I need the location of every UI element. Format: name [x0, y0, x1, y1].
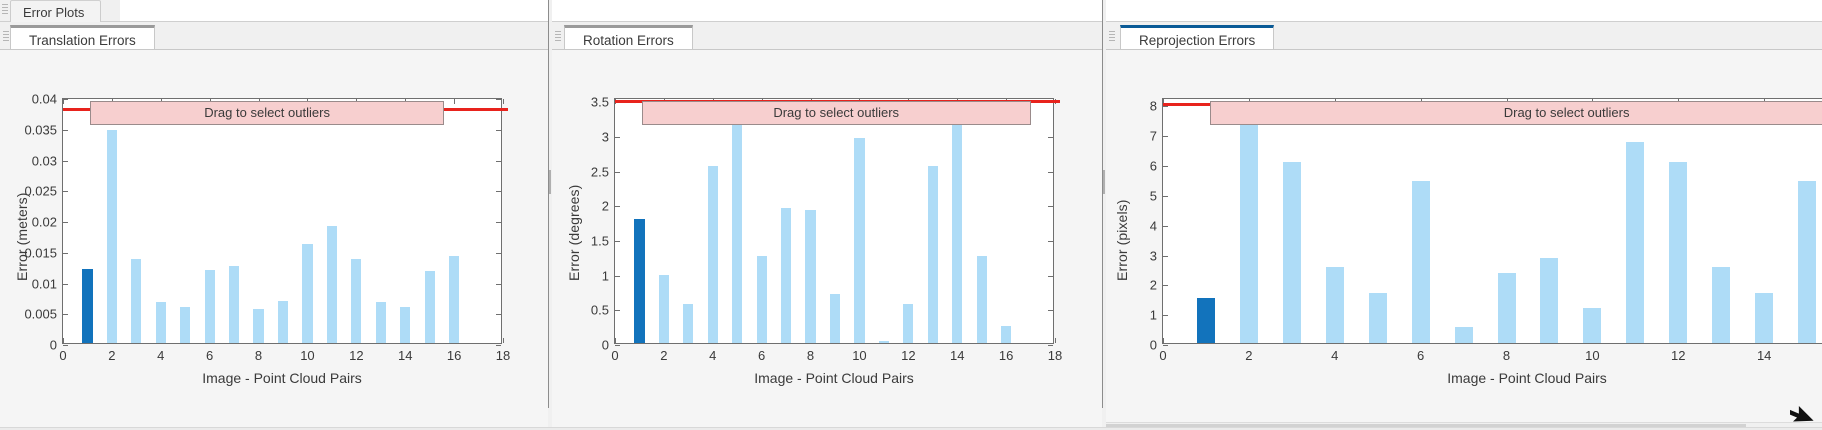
x-tick-label: 8 — [255, 348, 262, 363]
y-tick — [615, 206, 620, 207]
y-tick — [496, 345, 501, 346]
x-tick-label: 4 — [1331, 348, 1338, 363]
drag-to-select-outliers-band[interactable]: Drag to select outliers — [90, 101, 444, 125]
bar[interactable] — [156, 302, 166, 343]
y-tick-label: 0 — [50, 338, 57, 353]
x-axis-label: Image - Point Cloud Pairs — [614, 370, 1054, 386]
bar[interactable] — [708, 166, 718, 343]
bar[interactable] — [1712, 267, 1730, 343]
bar[interactable] — [449, 256, 459, 343]
y-tick-label: 0.03 — [32, 153, 57, 168]
y-tick-label: 6 — [1150, 159, 1157, 174]
y-tick — [63, 222, 68, 223]
y-tick — [63, 314, 68, 315]
x-tick-label: 14 — [398, 348, 412, 363]
y-tick — [1048, 345, 1053, 346]
y-axis-label: Error (meters) — [14, 192, 30, 281]
y-tick — [496, 191, 501, 192]
axes-1[interactable]: 00.511.522.533.5024681012141618Drag to s… — [614, 98, 1054, 344]
x-tick-label: 2 — [108, 348, 115, 363]
y-axis-label: Error (pixels) — [1114, 199, 1130, 281]
x-tick-label: 8 — [807, 348, 814, 363]
y-tick — [1048, 241, 1053, 242]
y-tick — [1048, 310, 1053, 311]
y-tick — [1163, 196, 1168, 197]
y-tick — [63, 345, 68, 346]
y-tick — [1163, 256, 1168, 257]
x-tick-label: 2 — [1245, 348, 1252, 363]
bar[interactable] — [757, 256, 767, 343]
y-tick — [63, 253, 68, 254]
x-tick-label: 10 — [1585, 348, 1599, 363]
y-tick-label: 3.5 — [591, 95, 609, 110]
bar[interactable] — [229, 266, 239, 343]
y-tick — [615, 310, 620, 311]
y-tick — [496, 314, 501, 315]
x-tick-label: 6 — [1417, 348, 1424, 363]
bar[interactable] — [1001, 326, 1011, 343]
y-tick — [1163, 285, 1168, 286]
y-tick — [496, 99, 501, 100]
y-tick-label: 0.01 — [32, 276, 57, 291]
y-tick-label: 2 — [602, 199, 609, 214]
y-tick-label: 3 — [602, 130, 609, 145]
y-tick-label: 7 — [1150, 129, 1157, 144]
bar[interactable] — [903, 304, 913, 343]
x-tick-label: 4 — [157, 348, 164, 363]
bar[interactable] — [1197, 298, 1215, 343]
bar[interactable] — [1626, 142, 1644, 343]
y-tick — [63, 284, 68, 285]
x-tick — [454, 99, 455, 104]
x-tick-label: 2 — [660, 348, 667, 363]
y-tick-label: 8 — [1150, 99, 1157, 114]
x-tick-label: 12 — [1671, 348, 1685, 363]
figure-2: 0123456780246810121416Drag to select out… — [1106, 50, 1822, 422]
y-tick-label: 0.5 — [591, 303, 609, 318]
y-tick-label: 3 — [1150, 248, 1157, 263]
x-tick-label: 10 — [852, 348, 866, 363]
bar[interactable] — [205, 270, 215, 343]
y-tick — [615, 241, 620, 242]
x-tick-label: 12 — [349, 348, 363, 363]
bar[interactable] — [1798, 181, 1816, 343]
outer-tab-strip: Error Plots — [0, 0, 1822, 22]
x-tick-label: 16 — [447, 348, 461, 363]
y-axis-label: Error (degrees) — [566, 185, 582, 281]
y-tick-label: 0.035 — [24, 122, 57, 137]
axes-0[interactable]: 00.0050.010.0150.020.0250.030.0350.04024… — [62, 98, 502, 344]
y-tick — [615, 137, 620, 138]
y-tick — [63, 130, 68, 131]
y-tick — [1048, 137, 1053, 138]
panel-tab-row-1: Rotation Errors — [552, 22, 1102, 50]
figure-1: 00.511.522.533.5024681012141618Drag to s… — [552, 50, 1102, 422]
bar[interactable] — [805, 210, 815, 343]
drag-grip-icon[interactable] — [555, 31, 561, 45]
x-axis-label: Image - Point Cloud Pairs — [1162, 370, 1822, 386]
bar[interactable] — [659, 275, 669, 343]
bar[interactable] — [327, 226, 337, 343]
x-tick — [503, 338, 504, 343]
x-tick — [63, 99, 64, 104]
x-tick — [1055, 338, 1056, 343]
outer-tab-strip-filler — [120, 0, 1822, 22]
figure-0: 00.0050.010.0150.020.0250.030.0350.04024… — [0, 50, 548, 422]
y-tick — [1163, 226, 1168, 227]
tab-rotation-errors[interactable]: Rotation Errors — [564, 25, 693, 50]
y-tick — [496, 284, 501, 285]
bar[interactable] — [781, 208, 791, 343]
plot-panel-1: Rotation Errors00.511.522.533.5024681012… — [552, 22, 1102, 430]
bar[interactable] — [82, 269, 92, 343]
drag-grip-icon[interactable] — [3, 31, 9, 45]
y-tick — [496, 222, 501, 223]
tab-error-plots[interactable]: Error Plots — [10, 0, 101, 22]
plot-panels: Translation Errors00.0050.010.0150.020.0… — [0, 22, 1822, 430]
drag-to-select-outliers-band[interactable]: Drag to select outliers — [642, 101, 1031, 125]
y-tick — [615, 345, 620, 346]
x-tick — [63, 338, 64, 343]
bar[interactable] — [1326, 267, 1344, 343]
drag-to-select-outliers-band[interactable]: Drag to select outliers — [1210, 101, 1822, 125]
y-tick — [615, 276, 620, 277]
x-tick — [1163, 338, 1164, 343]
x-tick-label: 14 — [1757, 348, 1771, 363]
tab-reprojection-errors[interactable]: Reprojection Errors — [1120, 25, 1274, 50]
bar[interactable] — [1369, 293, 1387, 343]
x-tick-label: 12 — [901, 348, 915, 363]
x-tick-label: 18 — [1048, 348, 1062, 363]
y-tick — [63, 191, 68, 192]
y-tick-label: 2.5 — [591, 164, 609, 179]
y-tick-label: 2 — [1150, 278, 1157, 293]
bar[interactable] — [1412, 181, 1430, 343]
bar[interactable] — [1240, 123, 1258, 343]
bar[interactable] — [1669, 162, 1687, 343]
bar[interactable] — [302, 244, 312, 343]
x-tick-label: 18 — [496, 348, 510, 363]
drag-grip-icon[interactable] — [2, 4, 8, 18]
x-tick-label: 0 — [1159, 348, 1166, 363]
bar[interactable] — [278, 301, 288, 343]
bar[interactable] — [952, 119, 962, 343]
x-tick-label: 4 — [709, 348, 716, 363]
bar[interactable] — [1583, 308, 1601, 343]
y-tick-label: 0.005 — [24, 307, 57, 322]
bar[interactable] — [180, 307, 190, 343]
bar[interactable] — [977, 256, 987, 343]
bar[interactable] — [1755, 293, 1773, 343]
bar[interactable] — [879, 341, 889, 343]
error-plots-window: Error Plots Translation Errors00.0050.01… — [0, 0, 1822, 430]
bar[interactable] — [400, 307, 410, 343]
y-tick — [1163, 345, 1168, 346]
x-tick-label: 16 — [999, 348, 1013, 363]
y-tick — [496, 130, 501, 131]
drag-grip-icon[interactable] — [1109, 31, 1115, 45]
bar[interactable] — [732, 119, 742, 343]
y-tick-label: 4 — [1150, 218, 1157, 233]
plot-panel-2: Reprojection Errors012345678024681012141… — [1106, 22, 1822, 430]
y-tick-label: 0 — [1150, 338, 1157, 353]
x-tick — [615, 338, 616, 343]
y-tick-label: 0.04 — [32, 92, 57, 107]
bar[interactable] — [928, 166, 938, 343]
x-tick-label: 14 — [950, 348, 964, 363]
x-tick — [503, 99, 504, 104]
y-tick-label: 1 — [602, 268, 609, 283]
y-tick — [1048, 172, 1053, 173]
x-tick-label: 0 — [59, 348, 66, 363]
x-axis-label: Image - Point Cloud Pairs — [62, 370, 502, 386]
y-tick-label: 1.5 — [591, 234, 609, 249]
axes-2[interactable]: 0123456780246810121416Drag to select out… — [1162, 98, 1822, 344]
bar[interactable] — [107, 130, 117, 343]
panel-splitter-2[interactable] — [1102, 0, 1106, 408]
y-tick — [615, 172, 620, 173]
y-tick — [1163, 166, 1168, 167]
y-tick — [63, 161, 68, 162]
bar[interactable] — [1283, 162, 1301, 343]
y-tick-label: 1 — [1150, 308, 1157, 323]
bar[interactable] — [376, 302, 386, 343]
panel-tab-row-0: Translation Errors — [0, 22, 548, 50]
bar[interactable] — [830, 294, 840, 343]
x-tick-label: 6 — [206, 348, 213, 363]
y-tick-label: 0.02 — [32, 215, 57, 230]
bar[interactable] — [1455, 327, 1473, 343]
y-tick — [1163, 106, 1168, 107]
plot-panel-0: Translation Errors00.0050.010.0150.020.0… — [0, 22, 548, 430]
x-tick-label: 6 — [758, 348, 765, 363]
bar[interactable] — [131, 259, 141, 343]
bar[interactable] — [1540, 258, 1558, 343]
bar[interactable] — [253, 309, 263, 343]
y-tick — [496, 253, 501, 254]
tab-translation-errors[interactable]: Translation Errors — [10, 25, 155, 50]
bar[interactable] — [351, 259, 361, 343]
y-tick — [1048, 276, 1053, 277]
y-tick — [1048, 206, 1053, 207]
bar[interactable] — [425, 271, 435, 343]
y-tick-label: 5 — [1150, 188, 1157, 203]
panel-tab-row-2: Reprojection Errors — [1106, 22, 1822, 50]
panel-splitter-1[interactable] — [548, 0, 552, 408]
y-tick — [496, 161, 501, 162]
x-tick-label: 8 — [1503, 348, 1510, 363]
y-tick — [1163, 136, 1168, 137]
y-tick — [1163, 315, 1168, 316]
bar[interactable] — [634, 219, 644, 343]
bar[interactable] — [1498, 273, 1516, 343]
bar[interactable] — [854, 138, 864, 343]
y-tick-label: 0 — [602, 338, 609, 353]
bar[interactable] — [683, 304, 693, 343]
x-tick-label: 10 — [300, 348, 314, 363]
x-tick-label: 0 — [611, 348, 618, 363]
